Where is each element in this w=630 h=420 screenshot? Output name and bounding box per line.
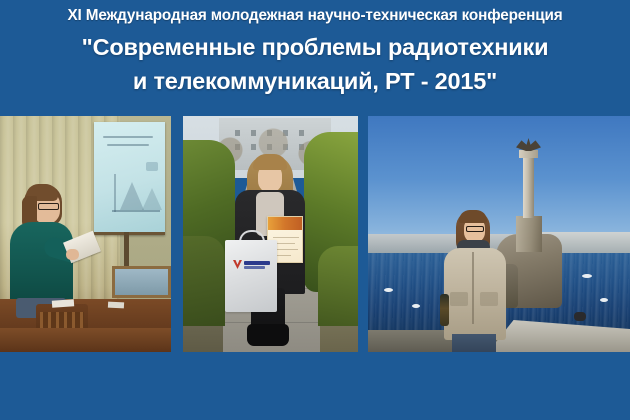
water-bottle (440, 294, 449, 326)
tote-bag (225, 240, 277, 312)
seagull (582, 274, 592, 278)
conference-title-line-2: и телекоммуникаций, РТ - 2015" (0, 66, 630, 96)
slide-triangle-shape-2 (142, 188, 162, 210)
sponsor-logo-icon (233, 260, 242, 269)
traveler-glasses (466, 226, 484, 232)
diploma-header-band (268, 217, 302, 230)
jacket-pocket-left (450, 292, 468, 306)
awardee-boots (247, 324, 289, 346)
bush-lower-right (318, 246, 358, 326)
slide-text-line-1 (103, 136, 153, 138)
diploma-text-line (273, 237, 299, 238)
slide-triangle-shape-1 (120, 182, 144, 210)
monument-pedestal (516, 216, 542, 252)
traveler-jeans (452, 334, 496, 352)
photo-monument (368, 116, 630, 352)
conference-banner: XI Международная молодежная научно-техни… (0, 0, 630, 420)
sponsor-logo-tagline (244, 266, 265, 269)
awardee-hair-top (253, 154, 287, 170)
conference-subtitle: XI Международная молодежная научно-техни… (0, 6, 630, 26)
sponsor-logo-wordmark (244, 261, 270, 265)
slide-chart-y-axis (114, 174, 116, 212)
presenter-sweater (10, 222, 73, 308)
presenter-hand (66, 249, 79, 260)
monument-column (523, 156, 534, 218)
slide-chart-x-axis (112, 210, 160, 212)
traveler-hair-top (459, 210, 487, 223)
table-paper-2 (108, 302, 124, 309)
footer-band (0, 352, 630, 420)
jacket-pocket-right (480, 292, 498, 306)
wooden-table (0, 328, 171, 352)
seagull (384, 288, 393, 292)
seagull (412, 304, 420, 308)
presenter-glasses (38, 203, 59, 210)
bush-lower-left (183, 236, 225, 326)
photo-monument-content (368, 116, 630, 352)
photo-presentation-content (0, 116, 171, 352)
slide-text-line-2 (107, 144, 149, 146)
photo-diploma-content (183, 116, 358, 352)
room-window (112, 266, 171, 298)
bird-on-pier (574, 312, 586, 321)
monument-capital (519, 150, 538, 158)
jacket-zipper (472, 252, 474, 324)
projector-screen (94, 122, 165, 235)
slide-annotation-mark (146, 162, 158, 171)
photo-presentation (0, 116, 171, 352)
banner-header: XI Международная молодежная научно-техни… (0, 0, 630, 116)
conference-title-line-1: "Современные проблемы радиотехники (0, 32, 630, 62)
seagull (600, 298, 608, 302)
photo-diploma (183, 116, 358, 352)
